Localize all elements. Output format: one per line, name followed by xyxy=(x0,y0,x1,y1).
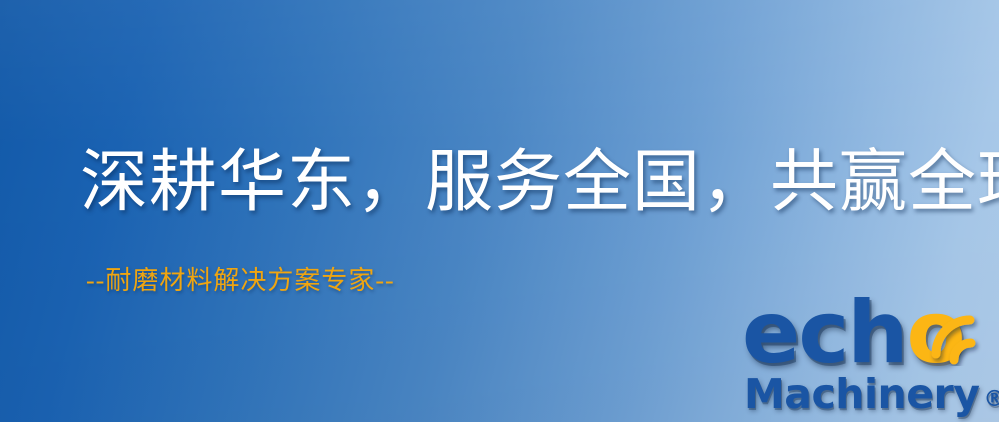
banner-subtitle: --耐磨材料解决方案专家-- xyxy=(86,268,395,294)
registered-trademark-icon: ® xyxy=(983,387,999,412)
banner-headline: 深耕华东，服务全国，共赢全球 xyxy=(80,148,999,216)
echo-machinery-logo: echo Machinery® xyxy=(742,296,994,420)
logo-subword-text: Machinery xyxy=(744,370,979,418)
echo-signal-arcs-icon xyxy=(926,292,999,366)
logo-wordmark-blue-text: ech xyxy=(742,283,907,383)
promo-banner: 深耕华东，服务全国，共赢全球 --耐磨材料解决方案专家-- echo Machi… xyxy=(0,0,999,422)
logo-subword: Machinery® xyxy=(744,374,999,415)
